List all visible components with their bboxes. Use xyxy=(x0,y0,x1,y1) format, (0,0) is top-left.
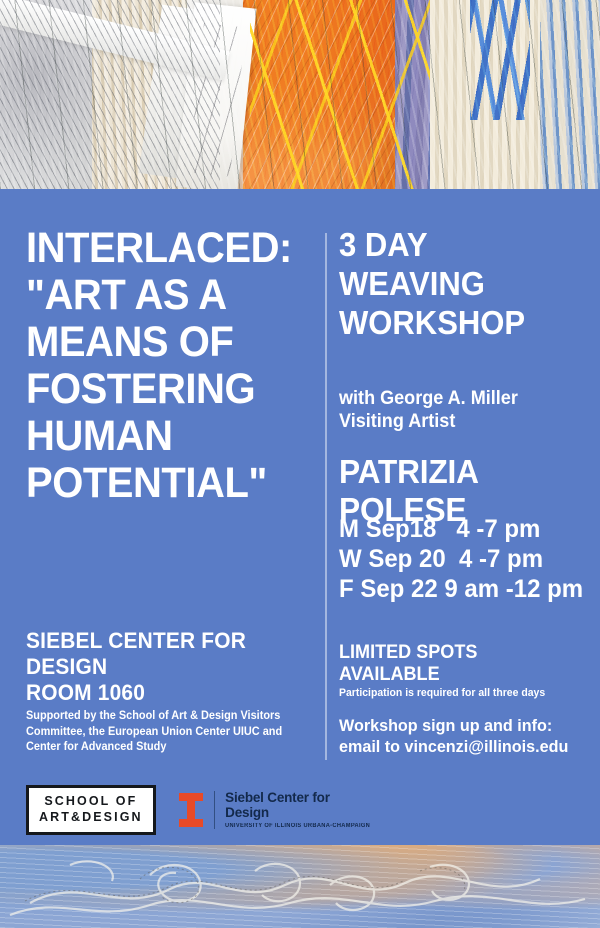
school-of-art-design-logo: SCHOOL OF ART&DESIGN xyxy=(26,785,156,835)
schedule-row: M Sep18 4 -7 pm xyxy=(339,514,581,544)
venue-location: SIEBEL CENTER FOR DESIGN ROOM 1060 xyxy=(26,628,300,706)
with-line-block: with George A. Miller Visiting Artist xyxy=(339,387,591,433)
content-panel: INTERLACED: "ART AS A MEANS OF FOSTERING… xyxy=(0,189,600,845)
siebel-logo-text: Siebel Center for Design UNIVERSITY OF I… xyxy=(225,790,378,830)
schedule-row: W Sep 20 4 -7 pm xyxy=(339,544,581,574)
availability-block: LIMITED SPOTS AVAILABLE Participation is… xyxy=(339,642,591,700)
participation-fineprint: Participation is required for all three … xyxy=(339,686,578,700)
workshop-kicker: 3 DAY WEAVING WORKSHOP xyxy=(339,225,576,342)
signup-block: Workshop sign up and info: email to vinc… xyxy=(339,715,591,757)
logo-row: SCHOOL OF ART&DESIGN Siebel Center for D… xyxy=(26,785,378,835)
sad-logo-line1: SCHOOL OF xyxy=(44,794,137,810)
siebel-logo-name: Siebel Center for Design xyxy=(225,790,378,820)
support-credits: Supported by the School of Art & Design … xyxy=(26,709,300,756)
bottom-photo-line-scribbles xyxy=(0,845,600,928)
illinois-block-i-icon xyxy=(178,792,204,828)
credits-block: Supported by the School of Art & Design … xyxy=(26,709,314,756)
bottom-artwork-photo xyxy=(0,845,600,928)
poster-canvas: INTERLACED: "ART AS A MEANS OF FOSTERING… xyxy=(0,0,600,928)
limited-spots-notice: LIMITED SPOTS AVAILABLE xyxy=(339,642,578,686)
visiting-artist-role: with George A. Miller Visiting Artist xyxy=(339,387,578,433)
top-artwork-photo xyxy=(0,0,600,189)
siebel-logo-subtitle: UNIVERSITY OF ILLINOIS URBANA-CHAMPAIGN xyxy=(225,823,370,830)
photo-overall-texture xyxy=(0,0,600,189)
column-divider xyxy=(325,233,327,760)
poster-headline: INTERLACED: "ART AS A MEANS OF FOSTERING… xyxy=(26,225,294,507)
schedule-row: F Sep 22 9 am -12 pm xyxy=(339,574,581,604)
logo-vertical-rule xyxy=(214,791,216,829)
right-column: 3 DAY WEAVING WORKSHOP xyxy=(339,225,591,342)
venue-block: SIEBEL CENTER FOR DESIGN ROOM 1060 xyxy=(26,628,314,706)
signup-contact: Workshop sign up and info: email to vinc… xyxy=(339,715,578,757)
left-column: INTERLACED: "ART AS A MEANS OF FOSTERING… xyxy=(26,225,314,507)
siebel-center-logo: Siebel Center for Design UNIVERSITY OF I… xyxy=(178,790,378,830)
schedule-block: M Sep18 4 -7 pm W Sep 20 4 -7 pm F Sep 2… xyxy=(339,514,591,604)
sad-logo-line2: ART&DESIGN xyxy=(39,810,143,826)
